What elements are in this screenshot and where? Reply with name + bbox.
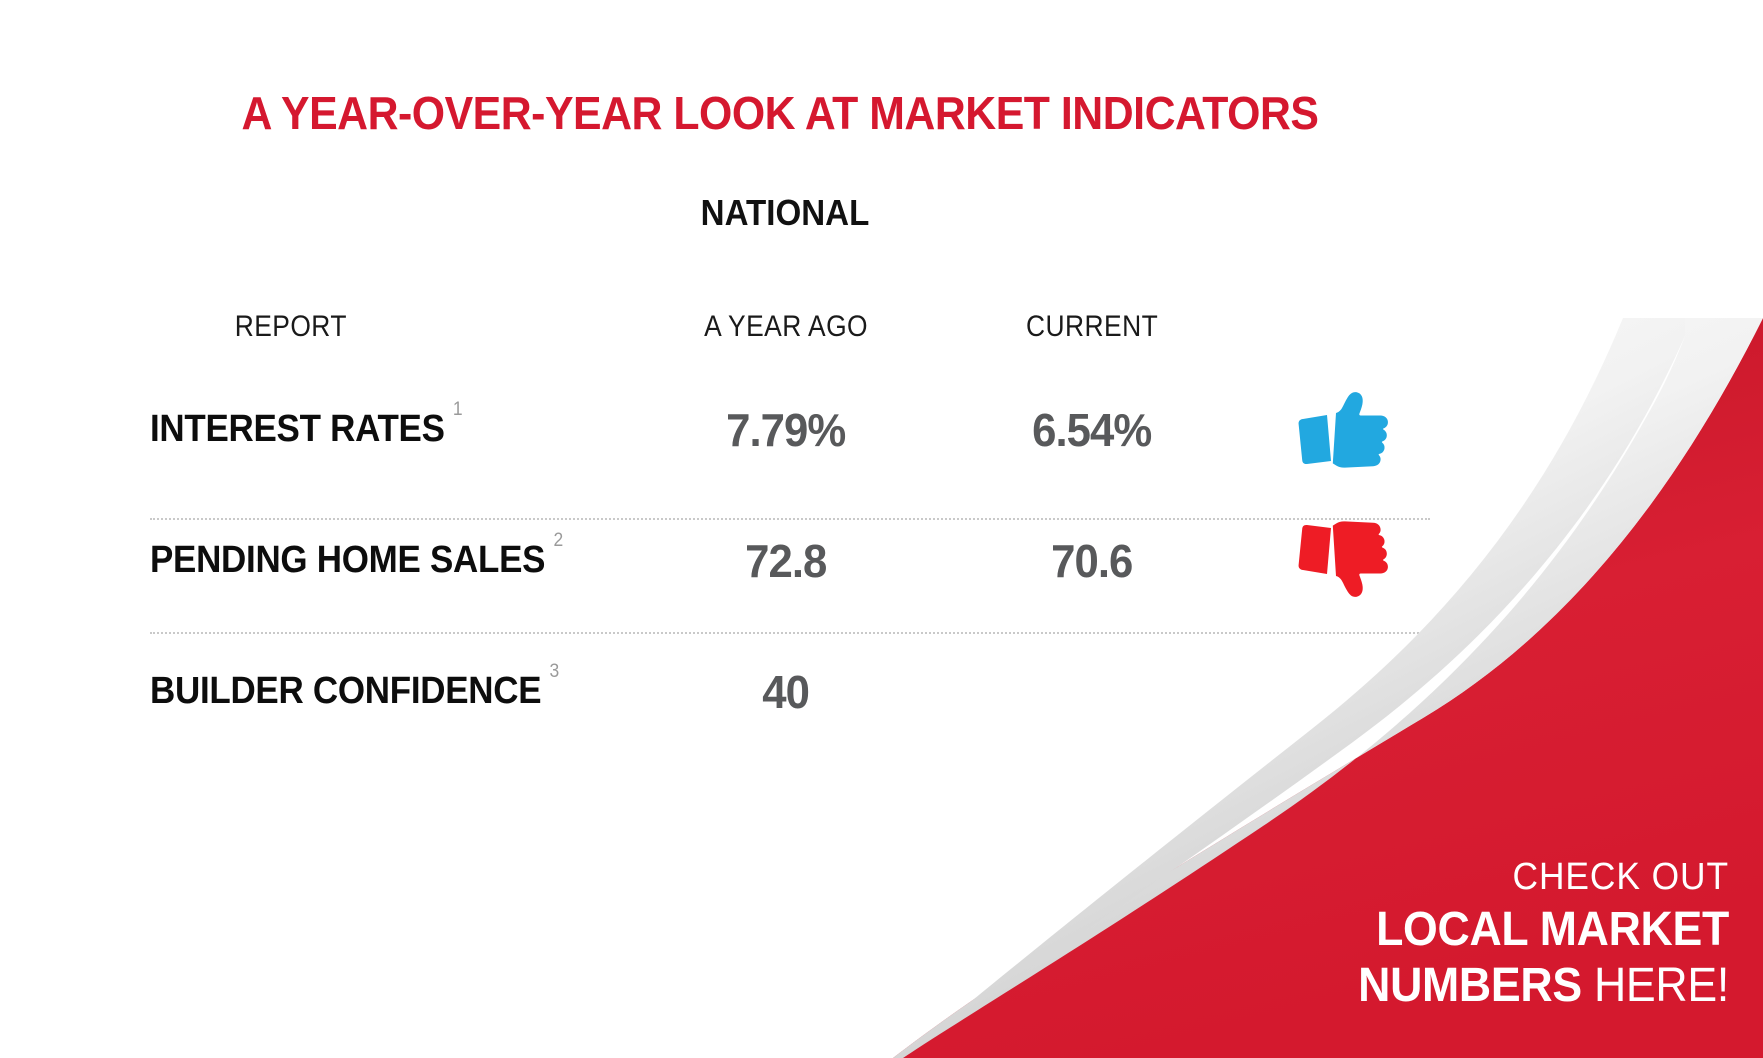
- page-title: A YEAR-OVER-YEAR LOOK AT MARKET INDICATO…: [55, 86, 1506, 140]
- footnote-marker: 2: [553, 530, 562, 551]
- column-header-a-year-ago-cell: A YEAR AGO: [633, 310, 939, 344]
- a-year-ago-cell: 72.8: [633, 534, 939, 588]
- section-label-national: NATIONAL: [615, 192, 955, 234]
- footnote-marker: 3: [550, 661, 559, 682]
- current-value: 6.54%: [1032, 403, 1151, 457]
- current-cell: 70.6: [939, 534, 1245, 588]
- cta-line-3: NUMBERS HERE!: [1338, 962, 1729, 1010]
- table-row: INTEREST RATES1 7.79% 6.54%: [150, 364, 1440, 495]
- cta-here-light: HERE!: [1582, 959, 1729, 1012]
- table-row: PENDING HOME SALES2 72.8 70.6: [150, 495, 1440, 626]
- column-header-a-year-ago: A YEAR AGO: [704, 310, 868, 344]
- a-year-ago-value: 72.8: [745, 534, 826, 588]
- report-cell: INTEREST RATES1: [150, 408, 633, 451]
- cta-line-1: CHECK OUT: [1338, 858, 1729, 896]
- indicator-cell: [1245, 520, 1440, 602]
- thumbs-down-icon: [1297, 520, 1389, 602]
- column-header-report: REPORT: [163, 310, 347, 344]
- a-year-ago-value: 7.79%: [726, 403, 845, 457]
- a-year-ago-cell: 7.79%: [633, 403, 939, 457]
- column-header-current: CURRENT: [1026, 310, 1158, 344]
- a-year-ago-cell: 40: [633, 665, 939, 719]
- report-label: PENDING HOME SALES2: [150, 539, 563, 582]
- cta-block[interactable]: CHECK OUT LOCAL MARKET NUMBERS HERE!: [1309, 858, 1729, 1010]
- cta-line-2: LOCAL MARKET: [1338, 906, 1729, 954]
- column-header-current-cell: CURRENT: [939, 310, 1245, 344]
- table-header-row: REPORT A YEAR AGO CURRENT: [150, 290, 1440, 364]
- thumbs-up-icon: [1297, 391, 1389, 469]
- report-cell: PENDING HOME SALES2: [150, 539, 633, 582]
- indicator-cell: [1245, 391, 1440, 469]
- column-header-report-cell: REPORT: [150, 310, 633, 344]
- current-value: 70.6: [1051, 534, 1132, 588]
- table-row: BUILDER CONFIDENCE3 40: [150, 626, 1440, 757]
- current-cell: 6.54%: [939, 403, 1245, 457]
- report-label: INTEREST RATES1: [150, 408, 462, 451]
- report-label: BUILDER CONFIDENCE3: [150, 670, 559, 713]
- footnote-marker: 1: [453, 399, 462, 420]
- indicators-table: REPORT A YEAR AGO CURRENT INTEREST RATES…: [150, 290, 1440, 757]
- a-year-ago-value: 40: [762, 665, 809, 719]
- market-indicators-graphic: A YEAR-OVER-YEAR LOOK AT MARKET INDICATO…: [0, 0, 1763, 1058]
- report-cell: BUILDER CONFIDENCE3: [150, 670, 633, 713]
- cta-numbers-bold: NUMBERS: [1358, 959, 1582, 1012]
